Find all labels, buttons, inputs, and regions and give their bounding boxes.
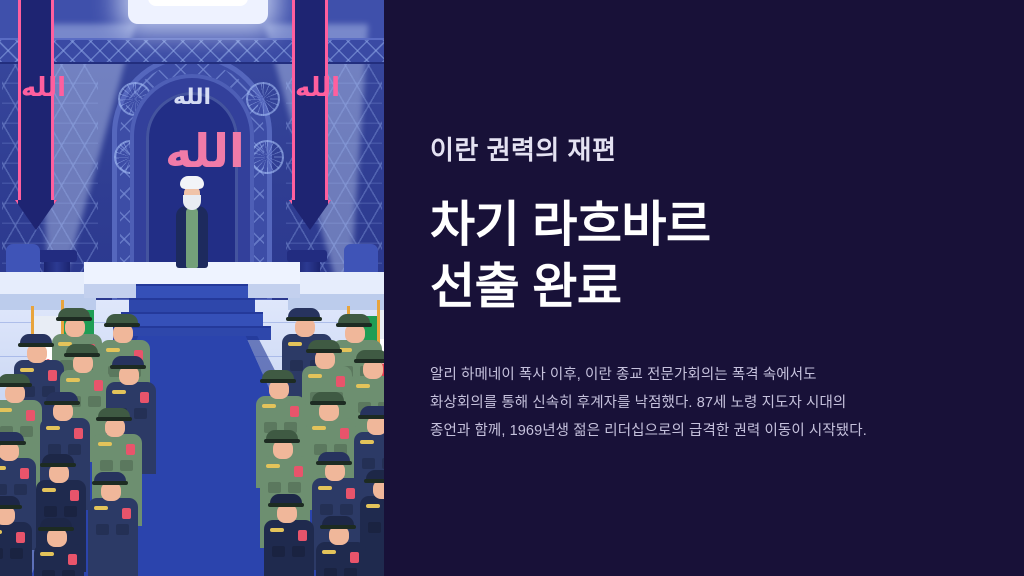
- headline-line-2: 선출 완료: [430, 257, 964, 319]
- text-panel: 이란 권력의 재편 차기 라흐바르 선출 완료 알리 하메네이 폭사 이후, 이…: [384, 0, 1024, 576]
- hanging-banner-right: الله: [292, 0, 328, 200]
- rosette-icon: [250, 140, 284, 174]
- military-crowd-right: [240, 300, 384, 576]
- page-title: 차기 라흐바르 선출 완료: [430, 195, 964, 318]
- iran-emblem-icon-small: الله: [169, 86, 215, 108]
- ceiling-light-core: [148, 0, 248, 6]
- ceremony-hall-illustration: الله الله الله الله: [0, 0, 384, 576]
- body-paragraph: 알리 하메네이 폭사 이후, 이란 종교 전문가회의는 폭격 속에서도 화상회의…: [430, 361, 964, 446]
- iran-emblem-icon: الله: [295, 72, 331, 103]
- step: [136, 284, 248, 298]
- cleric-figure: [170, 176, 214, 268]
- step: [129, 298, 255, 312]
- stage-wing-left: [0, 272, 96, 294]
- iran-emblem-icon-large: الله: [165, 128, 219, 174]
- news-card-slide: الله الله الله الله: [0, 0, 1024, 576]
- body-line-1: 알리 하메네이 폭사 이후, 이란 종교 전문가회의는 폭격 속에서도: [430, 361, 964, 389]
- military-crowd-left: [0, 300, 144, 576]
- stage-steps: [132, 284, 252, 340]
- headline-line-1: 차기 라흐바르: [430, 195, 964, 257]
- rosette-icon: [246, 82, 280, 116]
- body-line-2: 화상회의를 통해 신속히 후계자를 낙점했다. 87세 노령 지도자 시대의: [430, 389, 964, 417]
- eyebrow-label: 이란 권력의 재편: [430, 130, 964, 167]
- hanging-banner-left: الله: [18, 0, 54, 200]
- body-line-3: 종언과 함께, 1969년생 젊은 리더십으로의 급격한 권력 이동이 시작됐다…: [430, 417, 964, 445]
- iran-emblem-icon: الله: [21, 72, 57, 103]
- stage-wing-right: [288, 272, 384, 294]
